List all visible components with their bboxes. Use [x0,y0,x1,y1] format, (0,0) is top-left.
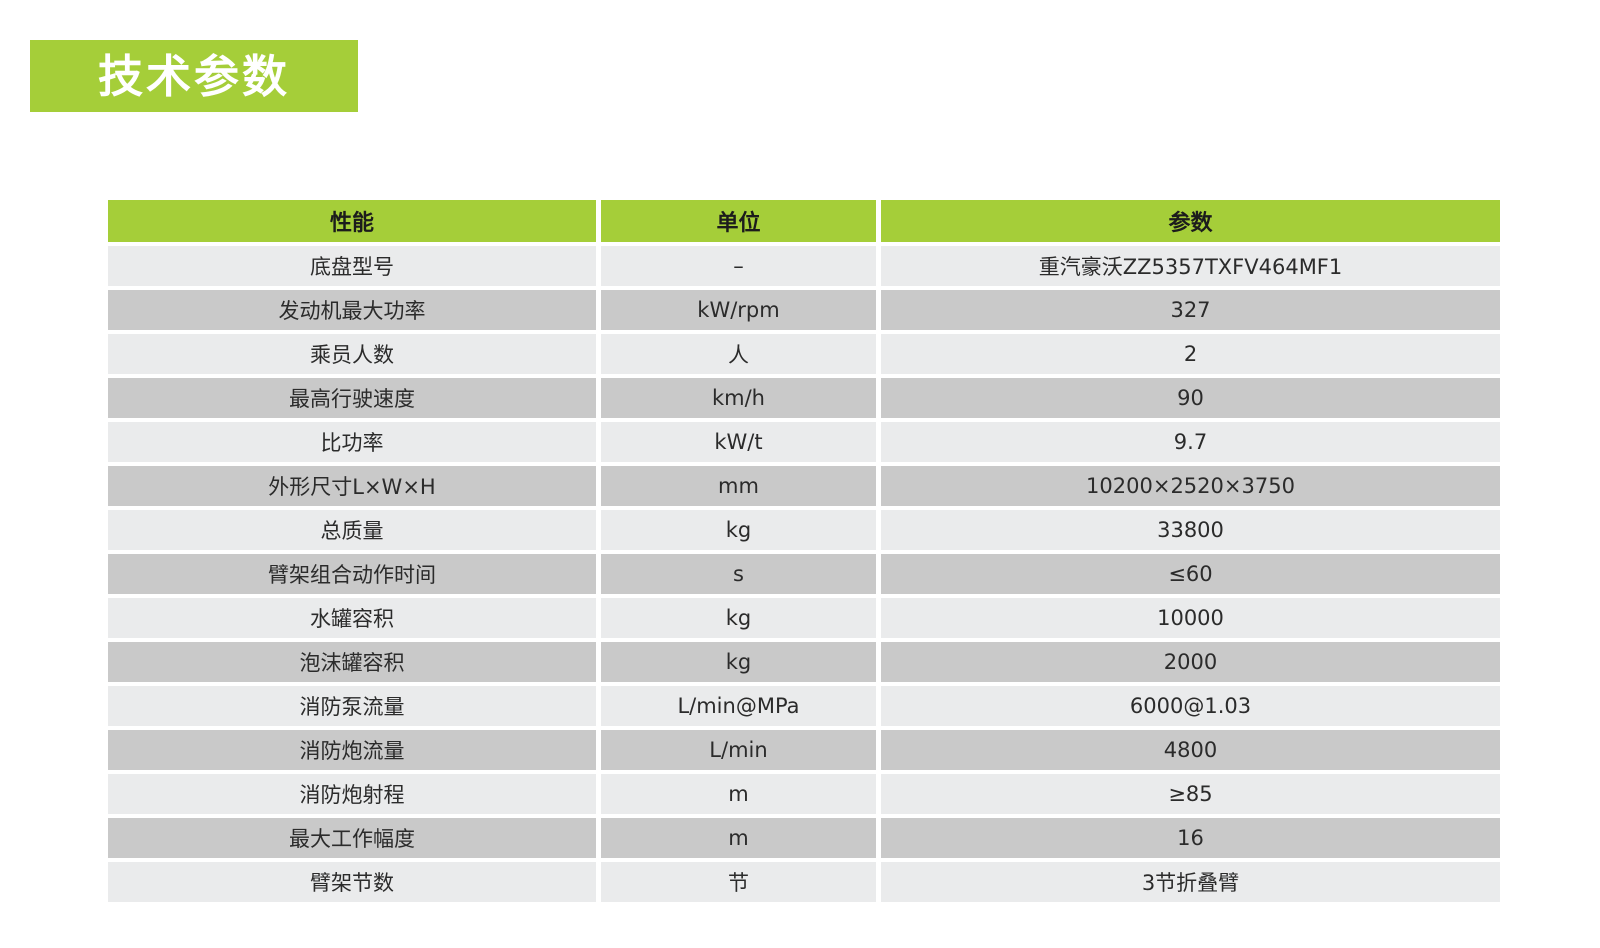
cell-parameter: 4800 [881,730,1500,770]
cell-performance: 臂架节数 [108,862,596,902]
cell-performance: 臂架组合动作时间 [108,554,596,594]
cell-performance: 消防炮射程 [108,774,596,814]
table-row: 消防泵流量L/min@MPa6000@1.03 [108,686,1500,726]
cell-parameter: 10200×2520×3750 [881,466,1500,506]
cell-unit: m [601,774,876,814]
cell-performance: 比功率 [108,422,596,462]
table-header-row: 性能 单位 参数 [108,200,1500,242]
cell-performance: 最高行驶速度 [108,378,596,418]
cell-parameter: 10000 [881,598,1500,638]
cell-parameter: ≥85 [881,774,1500,814]
table-body: 底盘型号–重汽豪沃ZZ5357TXFV464MF1发动机最大功率kW/rpm32… [108,246,1500,902]
cell-performance: 消防泵流量 [108,686,596,726]
cell-parameter: 6000@1.03 [881,686,1500,726]
cell-unit: kW/t [601,422,876,462]
table-row: 最大工作幅度m16 [108,818,1500,858]
cell-performance: 水罐容积 [108,598,596,638]
cell-unit: 节 [601,862,876,902]
column-header-unit: 单位 [601,200,876,242]
cell-unit: 人 [601,334,876,374]
cell-unit: mm [601,466,876,506]
cell-parameter: 9.7 [881,422,1500,462]
cell-parameter: 33800 [881,510,1500,550]
column-header-parameter: 参数 [881,200,1500,242]
cell-unit: km/h [601,378,876,418]
cell-performance: 最大工作幅度 [108,818,596,858]
cell-unit: kg [601,598,876,638]
page-title-banner: 技术参数 [30,40,358,112]
cell-unit: kg [601,510,876,550]
cell-unit: m [601,818,876,858]
table-row: 发动机最大功率kW/rpm327 [108,290,1500,330]
table-row: 臂架组合动作时间s≤60 [108,554,1500,594]
cell-parameter: 90 [881,378,1500,418]
cell-parameter: 2 [881,334,1500,374]
cell-parameter: 327 [881,290,1500,330]
technical-parameters-table: 性能 单位 参数 底盘型号–重汽豪沃ZZ5357TXFV464MF1发动机最大功… [108,200,1500,906]
table-row: 底盘型号–重汽豪沃ZZ5357TXFV464MF1 [108,246,1500,286]
table-row: 外形尺寸L×W×Hmm10200×2520×3750 [108,466,1500,506]
cell-unit: kW/rpm [601,290,876,330]
table-row: 消防炮射程m≥85 [108,774,1500,814]
cell-parameter: 重汽豪沃ZZ5357TXFV464MF1 [881,246,1500,286]
cell-performance: 乘员人数 [108,334,596,374]
cell-performance: 总质量 [108,510,596,550]
cell-performance: 泡沫罐容积 [108,642,596,682]
cell-unit: s [601,554,876,594]
table-row: 消防炮流量L/min4800 [108,730,1500,770]
cell-unit: L/min@MPa [601,686,876,726]
column-header-performance: 性能 [108,200,596,242]
cell-parameter: 16 [881,818,1500,858]
table-row: 乘员人数人2 [108,334,1500,374]
cell-parameter: 2000 [881,642,1500,682]
table-row: 臂架节数节3节折叠臂 [108,862,1500,902]
table-row: 泡沫罐容积kg2000 [108,642,1500,682]
table-row: 最高行驶速度km/h90 [108,378,1500,418]
cell-parameter: ≤60 [881,554,1500,594]
cell-unit: L/min [601,730,876,770]
cell-performance: 底盘型号 [108,246,596,286]
cell-unit: kg [601,642,876,682]
cell-performance: 发动机最大功率 [108,290,596,330]
cell-unit: – [601,246,876,286]
page-title: 技术参数 [98,54,290,99]
table-row: 水罐容积kg10000 [108,598,1500,638]
table-row: 比功率kW/t9.7 [108,422,1500,462]
cell-performance: 外形尺寸L×W×H [108,466,596,506]
cell-parameter: 3节折叠臂 [881,862,1500,902]
cell-performance: 消防炮流量 [108,730,596,770]
table-row: 总质量kg33800 [108,510,1500,550]
